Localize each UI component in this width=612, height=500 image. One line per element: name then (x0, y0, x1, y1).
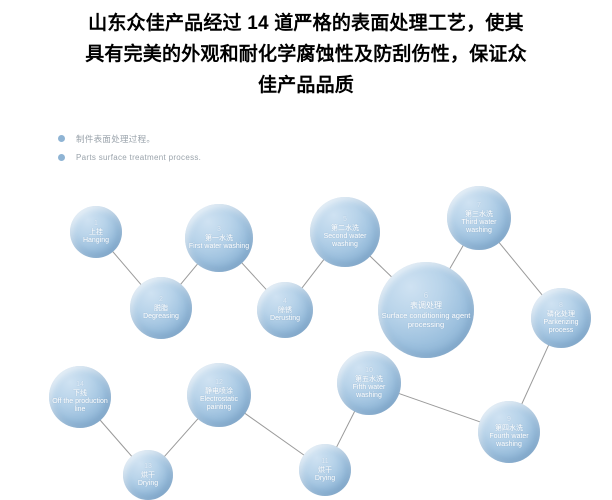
legend: 制件表面处理过程。 Parts surface treatment proces… (58, 131, 201, 169)
process-node-label-en: First water washing (186, 243, 252, 251)
legend-bullet-icon (58, 135, 65, 142)
page-title-line-3: 佳产品品质 (24, 70, 588, 101)
connector-line-9-to-10 (397, 393, 481, 423)
process-node-label-en: Parkerizing process (531, 319, 591, 335)
process-node-11[interactable]: 11烘干Drying (299, 444, 351, 496)
process-node-label-en: Fourth water washing (478, 433, 540, 449)
connector-line-13-to-14 (99, 419, 133, 458)
process-node-9[interactable]: 9第四水洗Fourth water washing (478, 401, 540, 463)
connector-line-4-to-5 (301, 258, 325, 289)
process-node-number: 13 (144, 463, 152, 471)
process-node-label-cn: 烘干 (141, 472, 155, 480)
process-node-number: 6 (424, 291, 428, 300)
process-node-4[interactable]: 4除锈Derusting (257, 282, 313, 338)
process-node-2[interactable]: 2脱脂Degreasing (130, 277, 192, 339)
connector-line-3-to-4 (241, 262, 268, 291)
process-node-label-en: Degreasing (140, 313, 182, 321)
process-node-5[interactable]: 5第二水洗Second water washing (310, 197, 380, 267)
connector-line-10-to-11 (336, 410, 356, 449)
connector-line-1-to-2 (112, 250, 143, 286)
connector-line-8-to-9 (521, 343, 549, 405)
process-node-label-cn: 第一水洗 (205, 235, 233, 243)
legend-bullet-icon (58, 154, 65, 161)
legend-item-label: 制件表面处理过程。 (76, 133, 155, 145)
process-node-1[interactable]: 1上挂Hanging (70, 206, 122, 258)
process-node-13[interactable]: 13烘干Drying (123, 450, 173, 500)
process-node-number: 12 (215, 379, 223, 387)
connector-line-12-to-13 (163, 417, 199, 457)
process-node-10[interactable]: 10第五水洗Fifth water washing (337, 351, 401, 415)
process-node-number: 1 (94, 220, 98, 228)
process-node-label-cn: 第二水洗 (331, 225, 359, 233)
process-node-label-cn: 静电喷涂 (205, 388, 233, 396)
process-node-label-en: Off the production line (49, 398, 111, 414)
process-node-number: 7 (477, 202, 481, 210)
process-node-label-cn: 脱脂 (154, 305, 168, 313)
process-node-label-en: Second water washing (310, 233, 380, 249)
process-node-label-en: Drying (135, 480, 161, 488)
process-node-label-cn: 除锈 (278, 307, 292, 315)
process-node-label-cn: 烘干 (318, 467, 332, 475)
process-node-3[interactable]: 3第一水洗First water washing (185, 204, 253, 272)
process-node-number: 5 (343, 216, 347, 224)
process-node-label-en: Drying (312, 475, 338, 483)
process-node-6[interactable]: 6表调处理Surface conditioning agent processi… (378, 262, 474, 358)
process-node-label-cn: 第三水洗 (465, 211, 493, 219)
connector-line-5-to-6 (369, 255, 393, 278)
process-node-label-en: Third water washing (447, 219, 511, 235)
process-node-number: 10 (365, 367, 373, 375)
legend-item-chinese: 制件表面处理过程。 (58, 131, 201, 146)
page-title-line-2: 具有完美的外观和耐化学腐蚀性及防刮伤性，保证众 (24, 39, 588, 70)
connector-line-6-to-7 (449, 244, 464, 270)
process-node-number: 2 (159, 296, 163, 304)
process-node-label-en: Hanging (80, 237, 112, 245)
process-node-8[interactable]: 8磷化处理Parkerizing process (531, 288, 591, 348)
process-node-number: 3 (217, 226, 221, 234)
process-node-12[interactable]: 12静电喷涂Electrostatic painting (187, 363, 251, 427)
process-node-number: 11 (321, 458, 328, 466)
process-node-label-en: Fifth water washing (337, 384, 401, 400)
process-node-label-en: Derusting (267, 315, 303, 323)
connector-line-7-to-8 (498, 241, 543, 296)
page-title-line-1: 山东众佳产品经过 14 道严格的表面处理工艺，使其 (24, 8, 588, 39)
process-node-label-en: Surface conditioning agent processing (378, 311, 474, 329)
process-node-label-cn: 下线 (73, 390, 87, 398)
page-title: 山东众佳产品经过 14 道严格的表面处理工艺，使其 具有完美的外观和耐化学腐蚀性… (0, 0, 612, 101)
process-node-number: 8 (559, 302, 563, 310)
connector-line-2-to-3 (180, 263, 199, 286)
process-node-number: 14 (76, 381, 84, 389)
process-node-7[interactable]: 7第三水洗Third water washing (447, 186, 511, 250)
process-flow-diagram: 1上挂Hanging2脱脂Degreasing3第一水洗First water … (0, 170, 612, 500)
process-node-label-en: Electrostatic painting (187, 396, 251, 412)
process-node-label-cn: 上挂 (89, 229, 103, 237)
legend-item-english: Parts surface treatment process. (58, 150, 201, 165)
process-node-label-cn: 第五水洗 (355, 376, 383, 384)
process-node-label-cn: 第四水洗 (495, 425, 523, 433)
process-node-label-cn: 表调处理 (410, 301, 442, 311)
process-node-14[interactable]: 14下线Off the production line (49, 366, 111, 428)
process-node-number: 9 (507, 416, 511, 424)
process-node-label-cn: 磷化处理 (547, 311, 575, 319)
legend-item-label: Parts surface treatment process. (76, 153, 201, 162)
connector-line-11-to-12 (243, 412, 305, 456)
process-node-number: 4 (283, 298, 287, 306)
